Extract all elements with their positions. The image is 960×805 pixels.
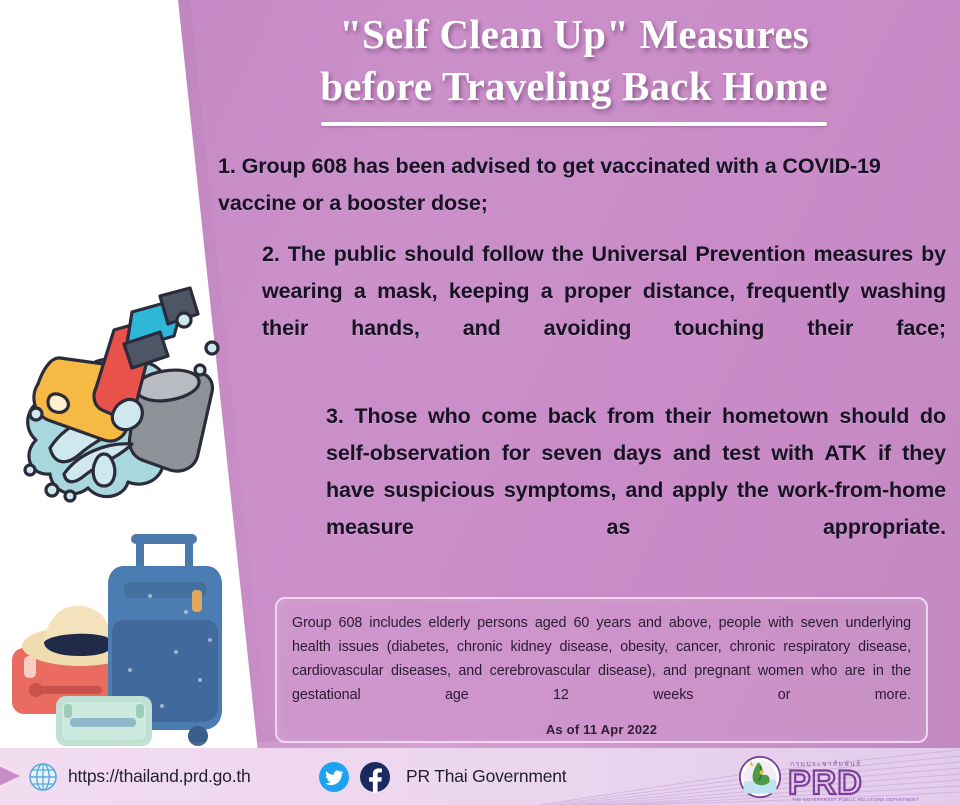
title-line-2: before Traveling Back Home [200,60,948,112]
prd-logo-text: กรมประชาสัมพันธ์ PRD THE GOVERNMENT PUBL… [786,752,950,802]
footer-bar: https://thailand.prd.go.th PR Thai Gover… [0,748,960,805]
measure-item-1: 1. Group 608 has been advised to get vac… [218,148,938,222]
cleaning-supplies-splash-illustration [8,278,233,510]
chevron-right-icon [0,760,20,792]
travel-luggage-illustration [0,520,260,752]
poster-title: "Self Clean Up" Measures before Travelin… [200,8,948,126]
globe-icon [28,762,58,792]
prd-logo[interactable]: กรมประชาสัมพันธ์ PRD THE GOVERNMENT PUBL… [738,752,950,802]
website-url[interactable]: https://thailand.prd.go.th [68,766,251,787]
website-group[interactable]: https://thailand.prd.go.th [28,748,251,805]
as-of-date: As of 11 Apr 2022 [275,722,928,737]
title-line-1: "Self Clean Up" Measures [200,8,948,60]
twitter-icon[interactable] [318,761,350,793]
group-608-note-text: Group 608 includes elderly persons aged … [292,611,911,731]
facebook-icon[interactable] [359,761,391,793]
infographic-poster: "Self Clean Up" Measures before Travelin… [0,0,960,805]
social-group[interactable]: PR Thai Government [318,748,566,805]
prd-sub-text: THE GOVERNMENT PUBLIC RELATIONS DEPARTME… [792,797,919,802]
measure-item-2: 2. The public should follow the Universa… [262,236,946,384]
measure-item-3: 3. Those who come back from their hometo… [326,398,946,583]
social-label[interactable]: PR Thai Government [406,766,566,787]
prd-emblem-icon [738,755,782,799]
title-divider [321,122,827,126]
